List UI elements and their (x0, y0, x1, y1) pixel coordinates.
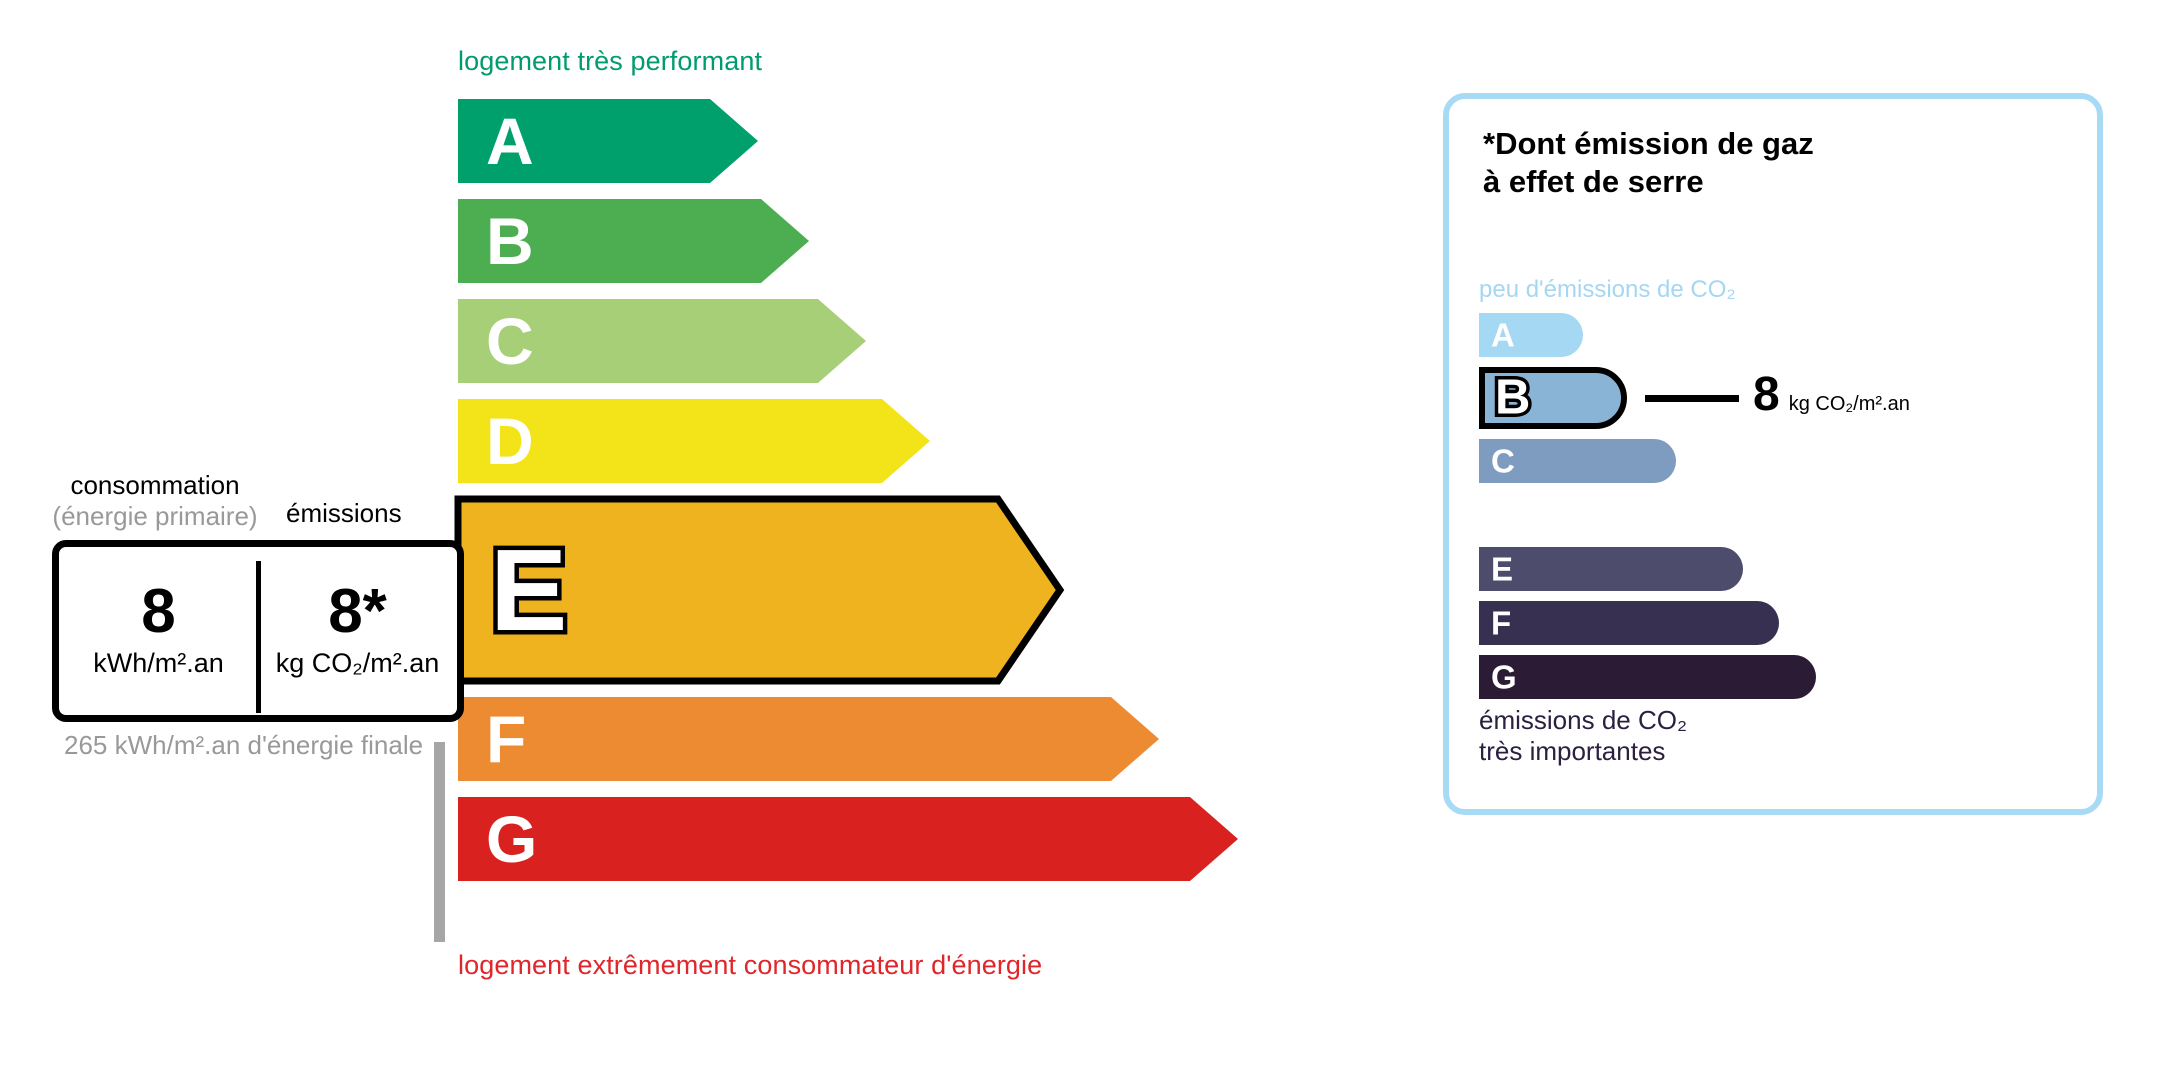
co2-bar-f (1479, 601, 1779, 645)
co2-letter-b: B (1495, 374, 1530, 423)
co2-letter-g: G (1491, 661, 1517, 694)
energy-letter-d: D (486, 408, 534, 474)
energy-unit: kWh/m².an (93, 648, 224, 679)
energy-letter-g: G (486, 806, 537, 872)
energie-finale-label: 265 kWh/m².an d'énergie finale (64, 730, 423, 761)
energy-row-b: B (458, 199, 761, 283)
passoire-divider-bar (434, 742, 445, 942)
co2-row-g: G (1479, 655, 1816, 699)
ges-value-cell: 8* kg CO₂/m².an (258, 547, 457, 715)
dpe-label-page: logement très performant ABCDEFG passoir… (0, 0, 2170, 1079)
energy-performance-scale: logement très performant ABCDEFG passoir… (0, 0, 1300, 1079)
co2-letter-d: D (1491, 499, 1515, 532)
ges-unit: kg CO₂/m².an (276, 648, 440, 679)
value-readout-box: 8 kWh/m².an 8* kg CO₂/m².an (52, 540, 464, 722)
energy-row-g: G (458, 797, 1190, 881)
emissions-label: émissions (286, 498, 402, 529)
consommation-subtitle: (énergie primaire) (52, 501, 257, 531)
co2-bar-g (1479, 655, 1816, 699)
energy-value: 8 (141, 583, 175, 642)
co2-panel-title: *Dont émission de gaz à effet de serre (1483, 125, 1814, 201)
energy-row-f: F (458, 697, 1111, 781)
energy-row-a: A (458, 99, 710, 183)
energy-row-e: E (458, 499, 998, 681)
co2-bottom-caption: émissions de CO₂ très importantes (1479, 705, 1687, 767)
co2-emissions-panel: *Dont émission de gaz à effet de serre p… (1443, 93, 2103, 815)
co2-callout-leader-line (1645, 395, 1739, 402)
co2-letter-a: A (1491, 319, 1515, 352)
energy-letter-e: E (490, 532, 567, 648)
co2-callout: 8 kg CO₂/m².an (1753, 371, 1910, 419)
co2-letter-c: C (1491, 445, 1515, 478)
co2-row-f: F (1479, 601, 1779, 645)
co2-row-d: D (1479, 493, 1709, 537)
energy-letter-f: F (486, 706, 526, 772)
energy-row-c: C (458, 299, 818, 383)
co2-top-caption: peu d'émissions de CO₂ (1479, 276, 1736, 304)
scale-bottom-caption: logement extrêmement consommateur d'éner… (458, 950, 1042, 981)
ges-value: 8* (328, 583, 387, 642)
co2-row-c: C (1479, 439, 1676, 483)
co2-letter-f: F (1491, 607, 1511, 640)
co2-bar-e (1479, 547, 1743, 591)
co2-row-b: B (1479, 367, 1627, 429)
co2-callout-value: 8 (1753, 371, 1780, 419)
consommation-label: consommation (énergie primaire) (52, 470, 258, 531)
co2-row-a: A (1479, 313, 1583, 357)
energy-letter-b: B (486, 208, 534, 274)
co2-letter-e: E (1491, 553, 1513, 586)
consommation-title: consommation (70, 470, 239, 500)
energy-letter-a: A (486, 108, 534, 174)
energy-row-d: D (458, 399, 882, 483)
co2-row-e: E (1479, 547, 1743, 591)
energy-letter-c: C (486, 308, 534, 374)
energy-value-cell: 8 kWh/m².an (59, 547, 258, 715)
co2-callout-unit: kg CO₂/m².an (1789, 393, 1910, 416)
